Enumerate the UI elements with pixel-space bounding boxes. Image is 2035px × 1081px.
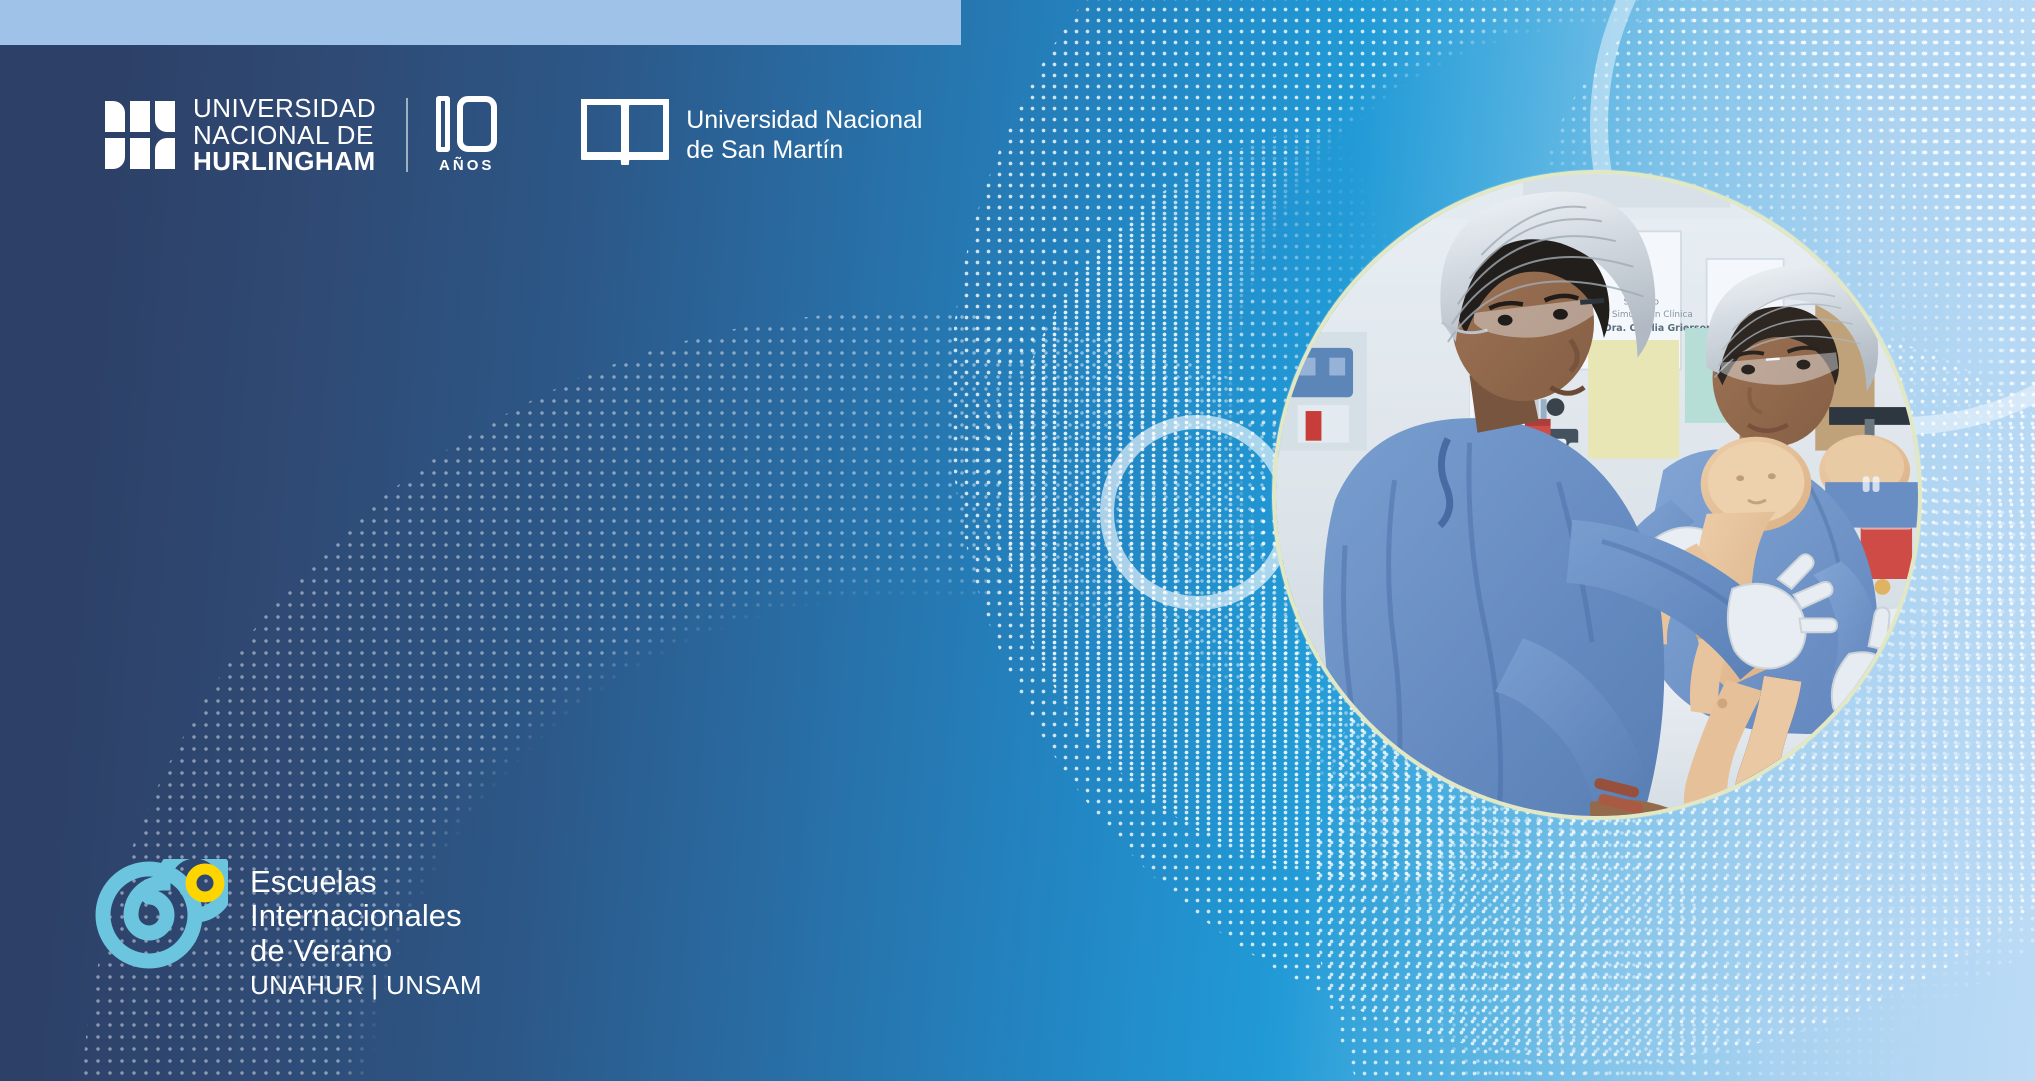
promotional-banner: Servicio Simulación Clínica Dra. Cecilia…	[0, 0, 2035, 1081]
unahur-grid-mark-icon	[105, 101, 175, 169]
yellow-ring-dot-icon	[191, 869, 219, 897]
spiral-wave-mark-icon	[88, 859, 228, 989]
unahur-line-3: HURLINGHAM	[193, 148, 376, 175]
top-accent-bar	[0, 0, 961, 45]
eiv-line-4: UNAHUR | UNSAM	[250, 970, 482, 1001]
anniversary-label: AÑOS	[439, 157, 494, 174]
unsam-line-1: Universidad Nacional	[686, 105, 922, 135]
unahur-wordmark: UNIVERSIDAD NACIONAL DE HURLINGHAM	[193, 95, 376, 175]
open-book-icon	[581, 99, 669, 170]
unahur-line-1: UNIVERSIDAD	[193, 95, 376, 122]
header-logos: UNIVERSIDAD NACIONAL DE HURLINGHAM AÑOS	[105, 95, 922, 175]
anniversary-number-icon	[436, 96, 497, 152]
unahur-logo[interactable]: UNIVERSIDAD NACIONAL DE HURLINGHAM	[105, 95, 376, 175]
unahur-line-2: NACIONAL DE	[193, 122, 376, 149]
escuelas-wordmark: Escuelas Internacionales de Verano UNAHU…	[250, 859, 482, 1001]
unsam-line-2: de San Martín	[686, 135, 922, 165]
simulation-lab-illustration: Servicio Simulación Clínica Dra. Cecilia…	[1276, 174, 1918, 816]
anniversary-badge: AÑOS	[436, 96, 497, 174]
logo-divider	[406, 98, 408, 172]
unsam-wordmark: Universidad Nacional de San Martín	[686, 105, 922, 165]
eiv-line-1: Escuelas	[250, 865, 482, 900]
simulation-lab-photo: Servicio Simulación Clínica Dra. Cecilia…	[1272, 170, 1922, 820]
eiv-line-3: de Verano	[250, 934, 482, 969]
outline-ring-icon	[1100, 415, 1295, 610]
escuelas-internacionales-logo[interactable]: Escuelas Internacionales de Verano UNAHU…	[88, 859, 482, 1001]
unsam-logo[interactable]: Universidad Nacional de San Martín	[581, 99, 922, 170]
eiv-line-2: Internacionales	[250, 899, 482, 934]
